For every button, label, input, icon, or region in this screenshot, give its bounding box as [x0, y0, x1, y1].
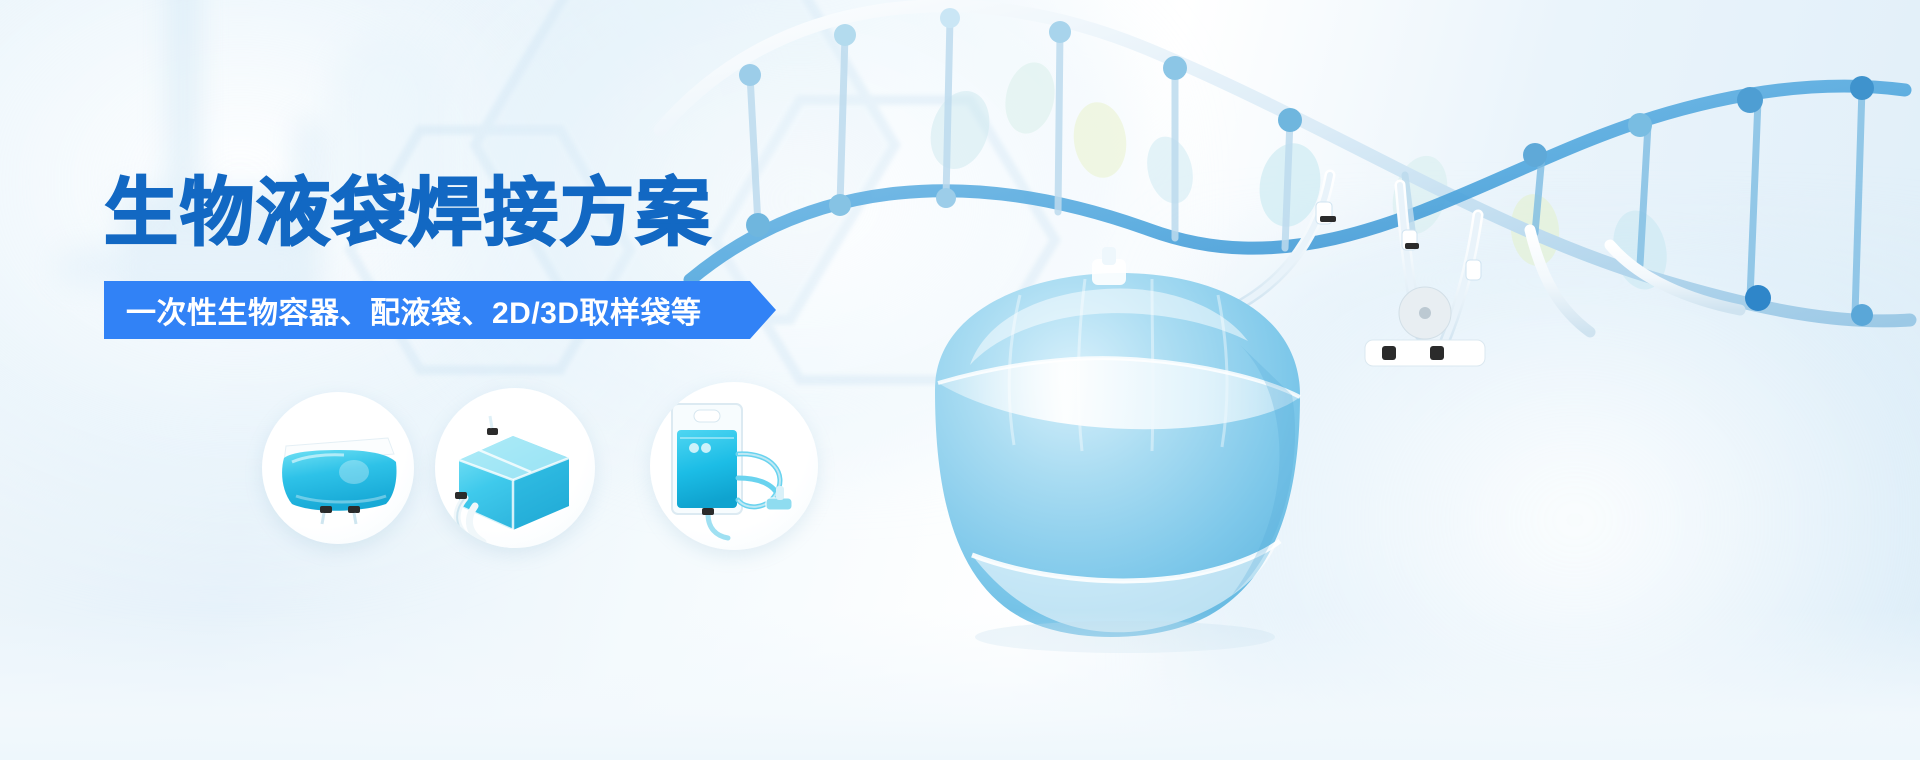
product-thumbnail-3[interactable]	[650, 382, 818, 550]
sampling-bag-icon	[650, 382, 818, 550]
product-thumbnail-1[interactable]	[262, 392, 414, 544]
page-title: 生物液袋焊接方案	[104, 176, 712, 250]
liquid-bag-2d-icon	[262, 392, 414, 544]
subtitle-text: 一次性生物容器、配液袋、2D/3D取样袋等	[126, 288, 702, 332]
product-thumbnail-2[interactable]	[435, 388, 595, 548]
product-thumbnail-list	[250, 382, 870, 560]
subtitle-banner: 一次性生物容器、配液袋、2D/3D取样袋等	[104, 281, 776, 339]
bottom-fade	[0, 610, 1920, 760]
liquid-bag-3d-icon	[435, 388, 595, 548]
bioreactor-bag-illustration	[880, 255, 1350, 655]
hero-banner: 生物液袋焊接方案 一次性生物容器、配液袋、2D/3D取样袋等	[0, 0, 1920, 760]
